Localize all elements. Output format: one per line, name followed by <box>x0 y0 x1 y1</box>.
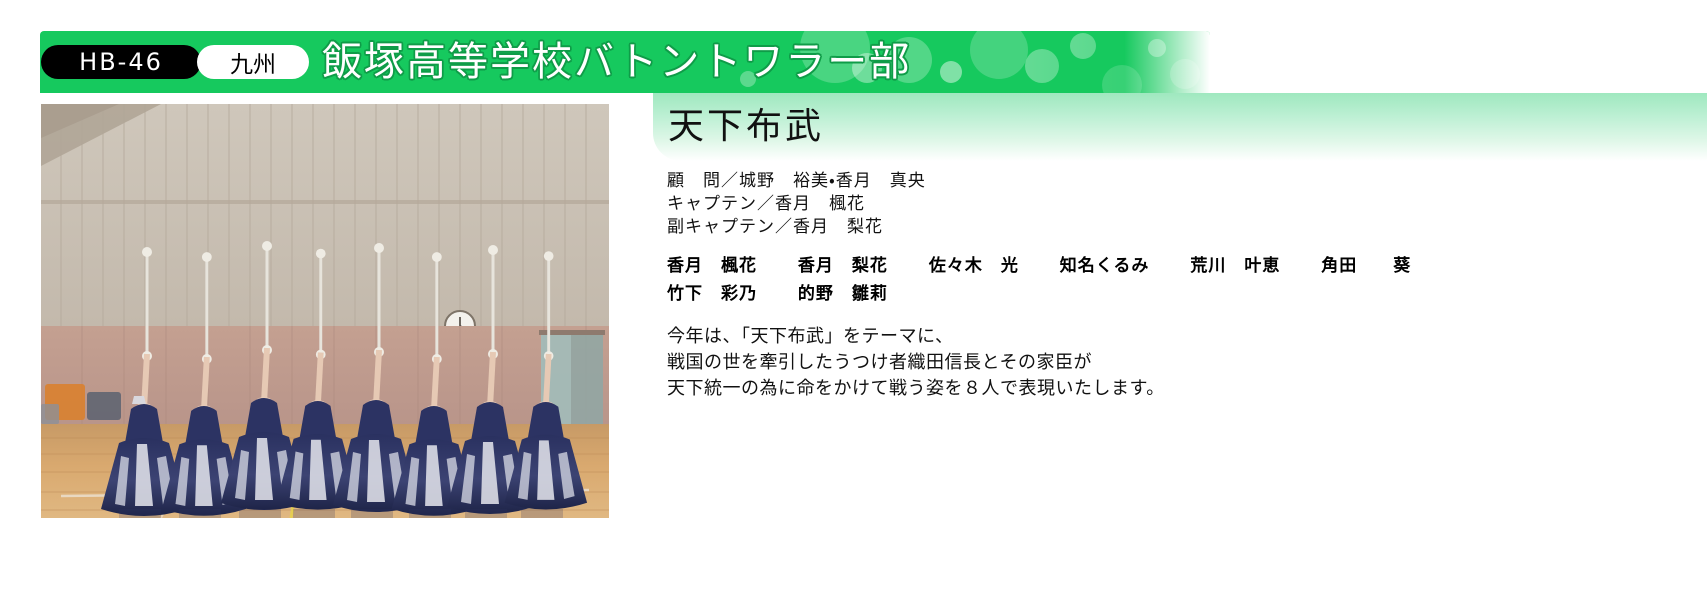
member-name: 荒川 叶恵 <box>1190 252 1280 280</box>
member-name: 佐々木 光 <box>929 252 1019 280</box>
banner-fade-overlay <box>1020 31 1210 93</box>
member-name: 香月 楓花 <box>667 252 757 280</box>
member-name: 知名くるみ <box>1060 252 1150 280</box>
advisor-line: 顧 問／城野 裕美・香月 真央 <box>667 170 1677 193</box>
info-column: 顧 問／城野 裕美・香月 真央 キャプテン／香月 楓花 副キャプテン／香月 梨花… <box>667 170 1677 402</box>
school-name-title: 飯塚高等学校バトントワラー部 <box>322 38 911 86</box>
program-title: 天下布武 <box>668 104 824 150</box>
description-line: 天下統一の為に命をかけて戦う姿を８人で表現いたします。 <box>667 376 1677 402</box>
program-description: 今年は、「天下布武」をテーマに、 戦国の世を牽引したうつけ者織田信長とその家臣が… <box>667 324 1677 402</box>
region-badge: 九州 <box>197 45 309 79</box>
performance-photo <box>41 104 609 518</box>
description-line: 戦国の世を牽引したうつけ者織田信長とその家臣が <box>667 350 1677 376</box>
bokeh-circle <box>940 61 962 83</box>
vice-captain-line: 副キャプテン／香月 梨花 <box>667 216 1677 239</box>
photo-artwork <box>41 104 609 518</box>
member-name: 竹下 彩乃 <box>667 280 757 308</box>
member-name: 香月 梨花 <box>798 252 888 280</box>
member-name: 角田 葵 <box>1321 252 1411 280</box>
description-line: 今年は、「天下布武」をテーマに、 <box>667 324 1677 350</box>
entry-code-badge: HB-46 <box>41 45 201 79</box>
captain-line: キャプテン／香月 楓花 <box>667 193 1677 216</box>
member-list: 香月 楓花 香月 梨花 佐々木 光 知名くるみ 荒川 叶恵 角田 葵 竹下 彩乃… <box>667 252 1547 308</box>
member-name: 的野 雛莉 <box>798 280 888 308</box>
